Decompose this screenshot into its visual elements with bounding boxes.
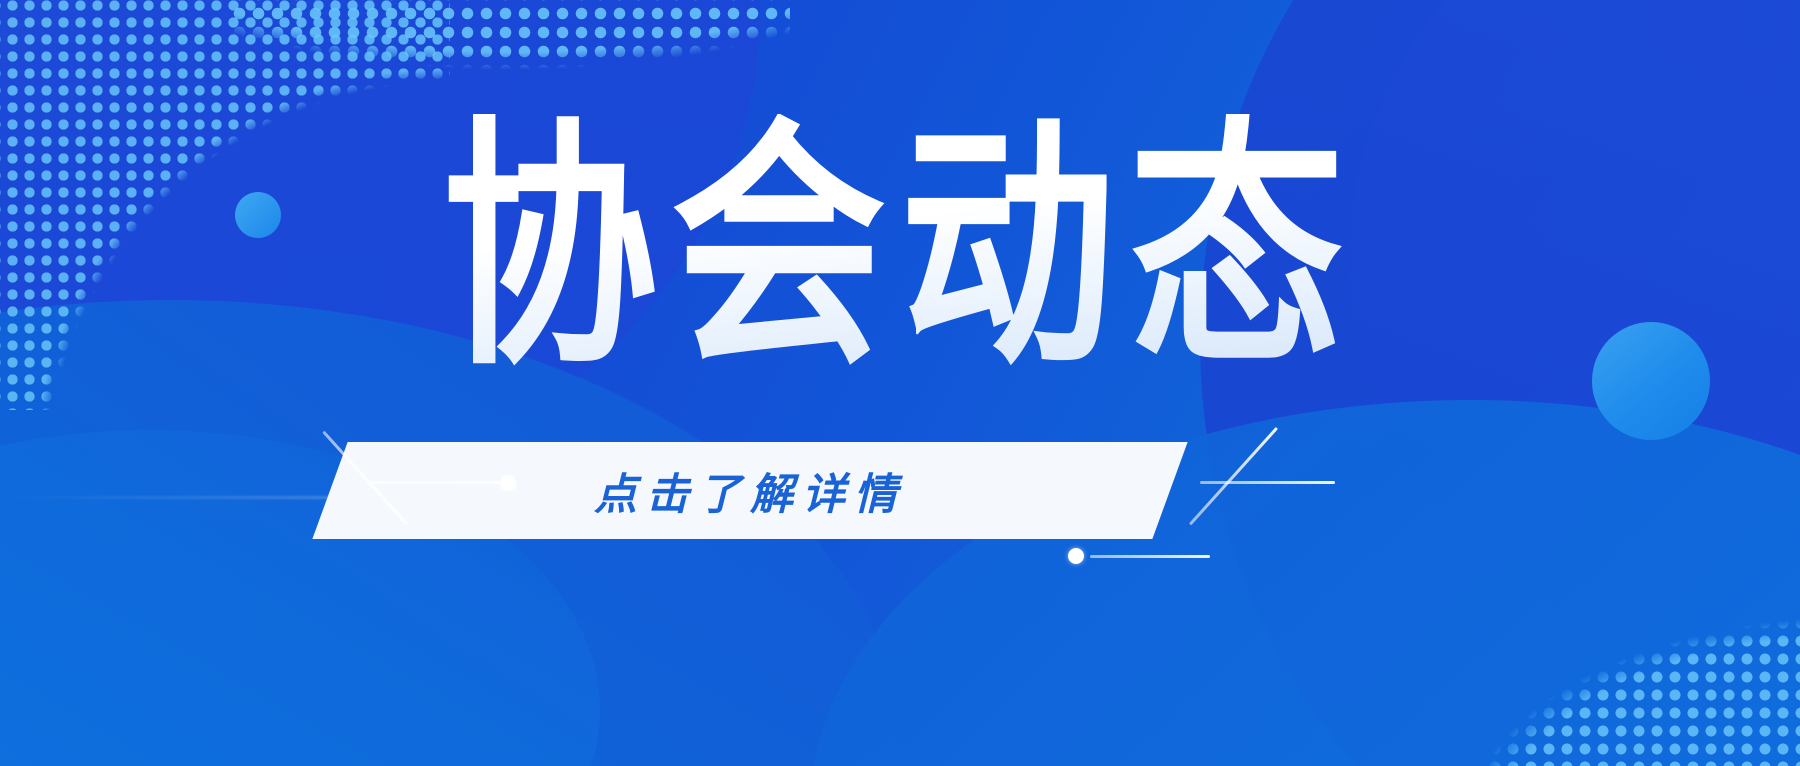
- banner-title: 协会动态: [0, 114, 1800, 382]
- subtitle-label[interactable]: 点击了解详情: [330, 442, 1170, 539]
- connector-right-diagonal-line: [1189, 427, 1278, 526]
- connector-right-lower-line: [1090, 555, 1210, 558]
- connector-right-horizontal-line: [1200, 481, 1335, 484]
- connector-right-dot-icon: [1068, 548, 1084, 564]
- promo-banner[interactable]: 协会动态 点击了解详情: [0, 0, 1800, 766]
- halftone-dots-bottom-right-icon: [1360, 560, 1800, 766]
